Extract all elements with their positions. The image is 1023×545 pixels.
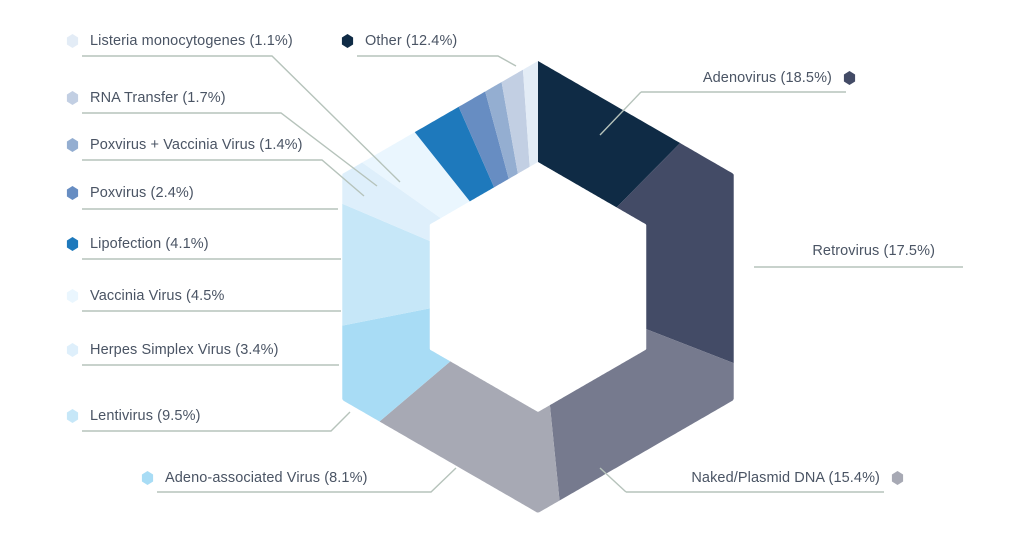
legend-label: Lipofection (4.1%): [90, 234, 209, 254]
leader-line: [357, 56, 516, 66]
legend-label: Retrovirus (17.5%): [812, 241, 935, 261]
legend-item-listeria-monocytogenes[interactable]: Listeria monocytogenes (1.1%): [66, 30, 293, 52]
legend-item-naked-plasmid-dna[interactable]: Naked/Plasmid DNA (15.4%): [691, 467, 904, 489]
legend-label: Poxvirus (2.4%): [90, 183, 194, 203]
legend-item-adenovirus[interactable]: Adenovirus (18.5%): [703, 67, 856, 89]
legend-item-adeno-associated-virus[interactable]: Adeno-associated Virus (8.1%): [141, 467, 368, 489]
legend-label: Other (12.4%): [365, 31, 457, 51]
legend-label: Vaccinia Virus (4.5%: [90, 286, 224, 306]
legend-label: Poxvirus + Vaccinia Virus (1.4%): [90, 135, 303, 155]
legend-label: Lentivirus (9.5%): [90, 406, 201, 426]
legend-label: Adeno-associated Virus (8.1%): [165, 468, 368, 488]
legend-item-lentivirus[interactable]: Lentivirus (9.5%): [66, 405, 201, 427]
legend-item-lipofection[interactable]: Lipofection (4.1%): [66, 233, 209, 255]
legend-marker-icon: [843, 71, 856, 85]
chart-slices: [342, 61, 733, 512]
legend-marker-icon: [66, 237, 79, 251]
legend-item-retrovirus[interactable]: Retrovirus (17.5%): [812, 240, 946, 262]
legend-marker-icon: [66, 409, 79, 423]
legend-marker-icon: [66, 91, 79, 105]
legend-item-herpes-simplex-virus[interactable]: Herpes Simplex Virus (3.4%): [66, 339, 279, 361]
legend-marker-icon: [891, 471, 904, 485]
legend-marker-icon: [66, 138, 79, 152]
legend-item-poxvirus-plus-vaccinia-virus[interactable]: Poxvirus + Vaccinia Virus (1.4%): [66, 134, 303, 156]
legend-label: Listeria monocytogenes (1.1%): [90, 31, 293, 51]
hexagon-donut-chart: [0, 0, 1023, 545]
legend-marker-icon: [66, 289, 79, 303]
legend-label: Naked/Plasmid DNA (15.4%): [691, 468, 880, 488]
legend-marker-icon: [66, 34, 79, 48]
leader-line: [82, 56, 400, 182]
legend-marker-icon: [141, 471, 154, 485]
legend-marker-icon: [66, 186, 79, 200]
legend-marker-icon: [341, 34, 354, 48]
legend-label: Herpes Simplex Virus (3.4%): [90, 340, 279, 360]
legend-item-poxvirus[interactable]: Poxvirus (2.4%): [66, 182, 194, 204]
legend-item-vaccinia-virus[interactable]: Vaccinia Virus (4.5%: [66, 285, 224, 307]
legend-label: RNA Transfer (1.7%): [90, 88, 226, 108]
legend-item-rna-transfer[interactable]: RNA Transfer (1.7%): [66, 87, 226, 109]
chart-canvas: Listeria monocytogenes (1.1%) RNA Transf…: [0, 0, 1023, 545]
legend-item-other[interactable]: Other (12.4%): [341, 30, 457, 52]
leader-line: [600, 468, 626, 492]
legend-label: Adenovirus (18.5%): [703, 68, 832, 88]
legend-marker-icon: [66, 343, 79, 357]
